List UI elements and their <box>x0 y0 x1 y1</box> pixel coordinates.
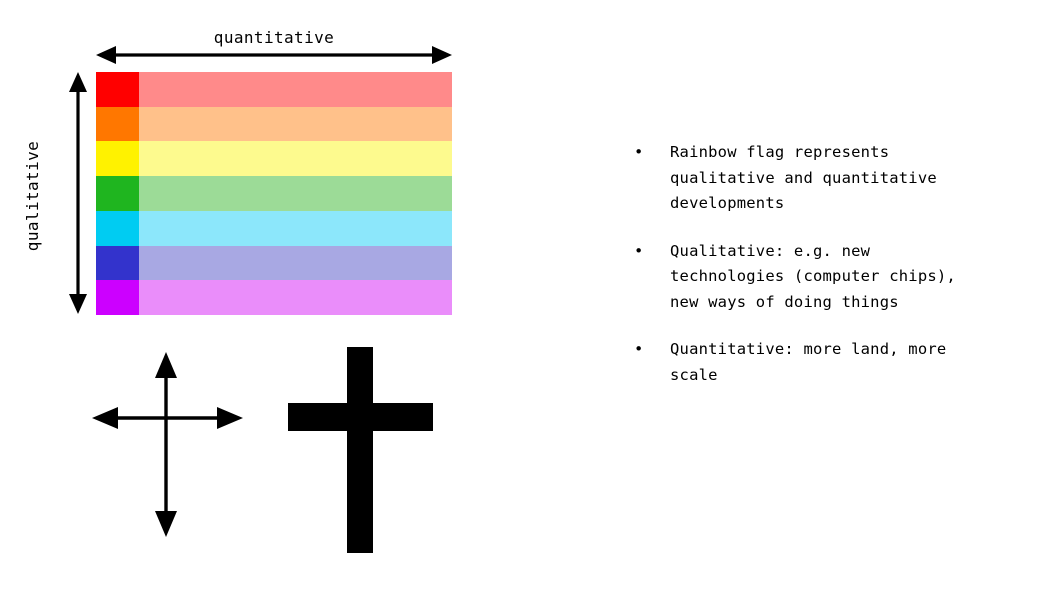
flag-stripe-saturated-red <box>96 72 139 107</box>
bullet-dot-icon: • <box>634 337 644 363</box>
flag-stripe-saturated-cyan <box>96 211 139 246</box>
axis-label-quantitative: quantitative <box>96 28 452 48</box>
flag-stripe-red <box>96 72 452 107</box>
latin-cross <box>288 347 433 553</box>
flag-stripe-blue <box>96 246 452 281</box>
flag-stripe-orange <box>96 107 452 142</box>
list-item: • Quantitative: more land, more scale <box>628 337 1028 388</box>
flag-stripe-saturated-green <box>96 176 139 211</box>
flag-stripe-saturated-yellow <box>96 141 139 176</box>
flag-stripe-tint-magenta <box>139 280 452 315</box>
flag-stripe-tint-red <box>139 72 452 107</box>
flag-stripe-tint-green <box>139 176 452 211</box>
list-item: • Rainbow flag represents qualitative an… <box>628 140 1028 217</box>
list-item-text: Qualitative: e.g. new technologies (comp… <box>670 239 1028 316</box>
bullet-list: • Rainbow flag represents qualitative an… <box>628 140 1028 410</box>
bullet-dot-icon: • <box>634 239 644 265</box>
flag-stripe-tint-orange <box>139 107 452 142</box>
flag-stripe-yellow <box>96 141 452 176</box>
slide-canvas: quantitative qualitative <box>0 0 1058 595</box>
list-item-text: Rainbow flag represents qualitative and … <box>670 140 1028 217</box>
list-item: • Qualitative: e.g. new technologies (co… <box>628 239 1028 316</box>
flag-stripe-tint-yellow <box>139 141 452 176</box>
flag-stripe-saturated-magenta <box>96 280 139 315</box>
axis-label-qualitative: qualitative <box>23 116 43 276</box>
list-item-text: Quantitative: more land, more scale <box>670 337 1028 388</box>
flag-stripe-tint-cyan <box>139 211 452 246</box>
flag-stripe-magenta <box>96 280 452 315</box>
flag-stripe-saturated-blue <box>96 246 139 281</box>
rainbow-flag <box>96 72 452 315</box>
four-way-double-arrow <box>92 352 243 537</box>
flag-stripe-cyan <box>96 211 452 246</box>
flag-stripe-green <box>96 176 452 211</box>
flag-stripe-saturated-orange <box>96 107 139 142</box>
double-headed-horizontal-arrow <box>96 46 452 64</box>
flag-stripe-tint-blue <box>139 246 452 281</box>
bullet-dot-icon: • <box>634 140 644 166</box>
double-headed-vertical-arrow <box>69 72 87 314</box>
